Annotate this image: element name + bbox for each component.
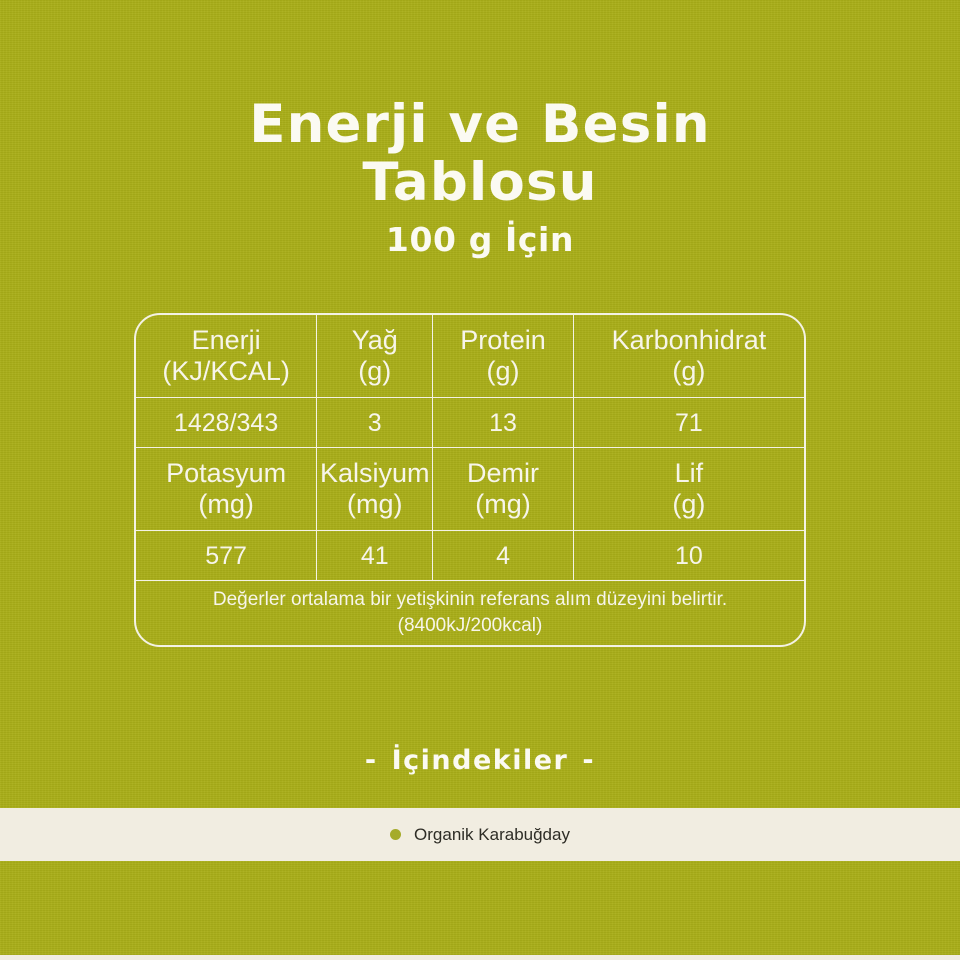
header-cell-demir: Demir (mg) [433,448,574,531]
bottom-strip [0,955,960,960]
header-cell-protein: Protein (g) [433,315,574,398]
header-cell-lif: Lif (g) [573,448,804,531]
table-footnote: Değerler ortalama bir yetişkinin referan… [136,581,804,646]
bullet-icon [390,829,401,840]
value-cell-enerji: 1428/343 [136,398,317,448]
header-label: Potasyum [166,458,286,488]
header-label: Protein [460,325,546,355]
nutrition-label-page: Enerji ve Besin Tablosu 100 g İçin Enerj… [0,0,960,960]
footnote-line-2: (8400kJ/200kcal) [136,613,804,639]
ingredient-label: Organik Karabuğday [414,825,570,845]
serving-basis-subtitle: 100 g İçin [0,222,960,258]
header-unit: (g) [317,356,432,387]
header-label: Demir [467,458,539,488]
title-line-1: Enerji ve Besin [0,96,960,154]
ingredients-heading-label: İçindekiler [392,745,569,776]
header-cell-kalsiyum: Kalsiyum (mg) [317,448,433,531]
footnote-line-1: Değerler ortalama bir yetişkinin referan… [213,589,727,610]
table-row: 1428/343 3 13 71 [136,398,804,448]
list-item: Organik Karabuğday [390,825,570,845]
header-unit: (mg) [433,489,573,520]
value-cell-kalsiyum: 41 [317,531,433,581]
header-cell-enerji: Enerji (KJ/KCAL) [136,315,317,398]
value-cell-demir: 4 [433,531,574,581]
ingredients-heading: -İçindekiler- [0,745,960,776]
value-cell-yag: 3 [317,398,433,448]
header-label: Kalsiyum [320,458,430,488]
page-title: Enerji ve Besin Tablosu 100 g İçin [0,96,960,258]
header-cell-karbonhidrat: Karbonhidrat (g) [573,315,804,398]
dash-right: - [568,745,609,776]
header-label: Enerji [192,325,261,355]
header-unit: (KJ/KCAL) [136,356,316,387]
table-row: Potasyum (mg) Kalsiyum (mg) Demir (mg) L… [136,448,804,531]
table-row: Değerler ortalama bir yetişkinin referan… [136,581,804,646]
dash-left: - [351,745,392,776]
value-cell-protein: 13 [433,398,574,448]
header-unit: (g) [433,356,573,387]
header-unit: (g) [574,356,804,387]
header-label: Lif [675,458,704,488]
value-cell-potasyum: 577 [136,531,317,581]
value-cell-karbonhidrat: 71 [573,398,804,448]
table-row: 577 41 4 10 [136,531,804,581]
table-row: Enerji (KJ/KCAL) Yağ (g) Protein (g) Kar… [136,315,804,398]
ingredients-band: Organik Karabuğday [0,808,960,861]
header-unit: (mg) [136,489,316,520]
header-cell-potasyum: Potasyum (mg) [136,448,317,531]
header-unit: (g) [574,489,804,520]
header-unit: (mg) [317,489,432,520]
header-label: Karbonhidrat [612,325,767,355]
value-cell-lif: 10 [573,531,804,581]
nutrition-table: Enerji (KJ/KCAL) Yağ (g) Protein (g) Kar… [134,313,806,647]
title-line-2: Tablosu [0,154,960,212]
header-cell-yag: Yağ (g) [317,315,433,398]
header-label: Yağ [352,325,398,355]
